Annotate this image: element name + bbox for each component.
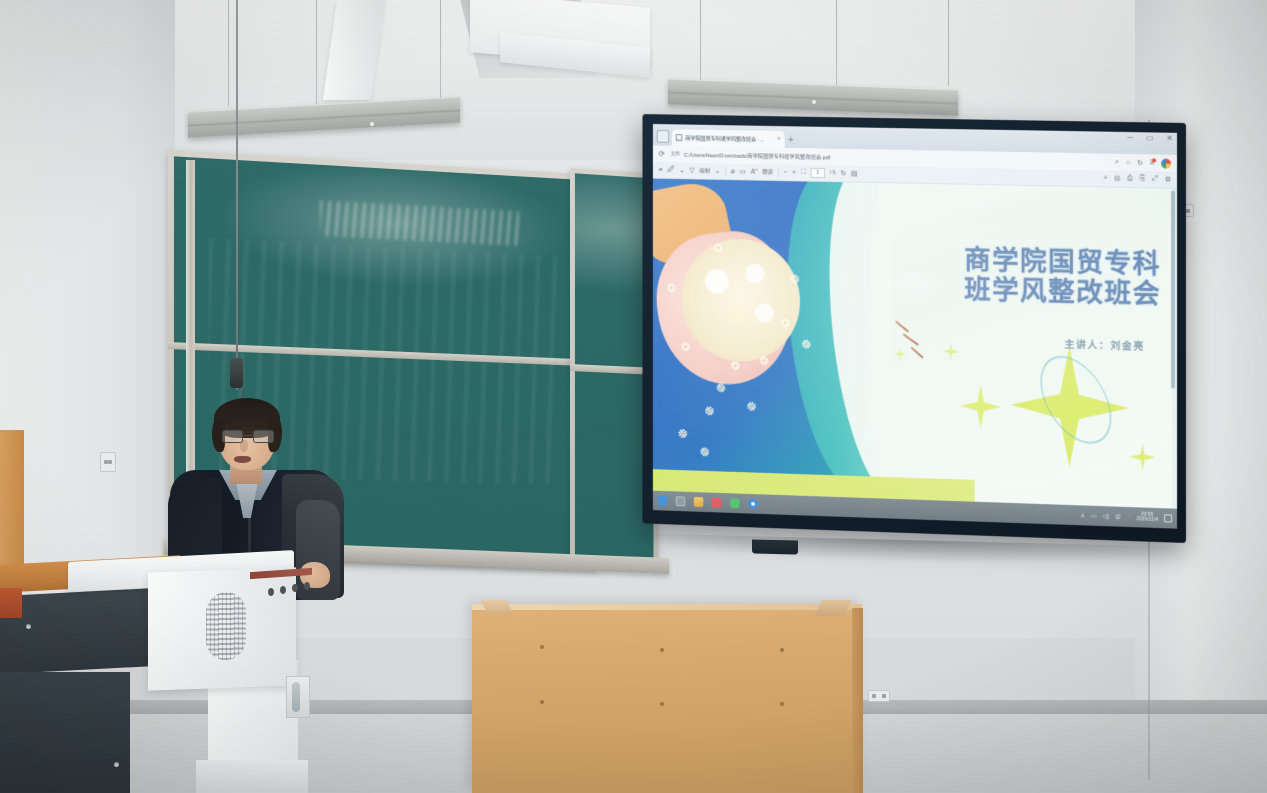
close-window-icon[interactable]: ✕ <box>1166 134 1173 143</box>
sparkle-star-corner <box>1130 443 1156 471</box>
classroom-photo: 商学院国贸专科班学风整改班会 - ... × + ─ ▭ ✕ ⟳ 文件 <box>0 0 1267 793</box>
tab-search-button[interactable] <box>657 130 669 143</box>
desk-screw <box>114 762 119 767</box>
app-pink-icon[interactable] <box>712 498 722 508</box>
daisy-flower <box>802 339 811 348</box>
toolbar-separator-2 <box>778 168 779 177</box>
left-wall <box>0 0 175 620</box>
sidebar-icon[interactable]: ⊟ <box>1114 175 1120 183</box>
daisy-flower <box>790 275 799 284</box>
browser-tab[interactable]: 商学院国贸专科班学风整改班会 - ... × <box>672 129 785 148</box>
foreground-desk-top-edge <box>472 604 862 610</box>
wall-phone-handset <box>292 682 300 712</box>
daisy-flower <box>731 361 740 370</box>
slide-title: 商学院国贸专科 班学风整改班会 <box>833 242 1160 310</box>
file-badge-label: 文件 <box>671 151 681 158</box>
projected-display: 商学院国贸专科班学风整改班会 - ... × + ─ ▭ ✕ ⟳ 文件 <box>653 124 1177 529</box>
daisy-flower <box>667 283 676 292</box>
home-icon[interactable]: ⌂ <box>1126 159 1130 166</box>
lectern-port-hole <box>292 584 298 592</box>
chalk-residue <box>320 200 520 246</box>
fit-page-icon[interactable]: ⛶ <box>801 169 806 177</box>
pdf-scrollbar[interactable] <box>1172 189 1176 509</box>
ime-indicator[interactable]: 中 <box>1115 512 1121 521</box>
lectern-port-hole <box>268 588 274 596</box>
volume-icon[interactable]: ◁) <box>1102 513 1109 520</box>
foreground-desk <box>472 604 862 793</box>
action-center-icon[interactable] <box>1164 514 1172 522</box>
extensions-icon[interactable]: ⌸ <box>1150 159 1154 167</box>
daisy-flower <box>679 429 688 438</box>
save-icon[interactable]: ⎘ <box>1140 175 1146 183</box>
pdf-file-icon <box>676 134 683 141</box>
projection-screen: 商学院国贸专科班学风整改班会 - ... × + ─ ▭ ✕ ⟳ 文件 <box>642 114 1186 543</box>
foreground-desk-right-edge <box>852 608 863 793</box>
profile-icon[interactable] <box>1161 158 1171 168</box>
lectern-port-hole <box>304 582 310 590</box>
sparkle-star-tiny <box>894 347 907 360</box>
chevron-down-icon[interactable]: ⌄ <box>679 166 685 174</box>
light-cable-1b <box>316 0 317 112</box>
desk-screw <box>780 702 784 706</box>
daisy-flower <box>781 318 790 327</box>
fullscreen-icon[interactable]: ⤢ <box>1152 175 1158 183</box>
eraser-icon[interactable]: ⌀ <box>731 167 735 175</box>
daisy-flower <box>705 407 714 416</box>
presenter-mouth <box>234 456 251 463</box>
light-cable-1a <box>228 0 229 106</box>
find-icon[interactable]: ⌕ <box>1104 174 1108 182</box>
network-icon[interactable]: ▭ <box>1091 512 1097 519</box>
sparkle-star-medium <box>960 384 1001 429</box>
light-right-lamp <box>812 100 816 104</box>
settings-icon[interactable]: ⚙ <box>1165 176 1171 184</box>
taskbar-clock[interactable]: 20:55 2025/11/4 <box>1136 512 1158 523</box>
pdf-scrollbar-thumb[interactable] <box>1171 191 1175 389</box>
desk-screw <box>660 648 664 652</box>
page-number-input[interactable]: 1 <box>810 168 824 178</box>
draw-tool-label[interactable]: 绘制 <box>699 167 710 175</box>
chevron-down-icon-2[interactable]: ⌄ <box>715 167 721 175</box>
desk-screw <box>540 645 544 649</box>
draw-tool-icon[interactable]: ▽ <box>689 167 694 175</box>
lectern-base <box>196 760 308 793</box>
reload-icon[interactable]: ⟳ <box>659 149 665 158</box>
glasses-lens-left <box>222 430 243 443</box>
print-icon[interactable]: ⎙ <box>1127 175 1133 183</box>
twig-decoration <box>895 320 909 332</box>
twig-decoration <box>910 346 923 358</box>
zoom-out-button[interactable]: − <box>783 169 787 176</box>
daisy-flower <box>717 384 726 393</box>
sync-icon[interactable]: ↻ <box>1137 159 1143 167</box>
daisy-flower <box>700 447 709 456</box>
left-wood-panel <box>0 430 24 580</box>
search-icon[interactable]: ⌕ <box>1115 158 1119 166</box>
tab-title: 商学院国贸专科班学风整改班会 - ... <box>685 134 764 143</box>
lectern-port-hole <box>280 586 286 594</box>
hanging-cable <box>236 0 238 390</box>
minimize-icon[interactable]: ─ <box>1127 133 1133 142</box>
maximize-icon[interactable]: ▭ <box>1146 133 1154 142</box>
presenter-glasses <box>222 430 274 443</box>
daisy-flower <box>747 402 756 411</box>
wall-outlet-lower <box>868 690 890 702</box>
wall-switch <box>100 452 116 472</box>
slide-page: 商学院国贸专科 班学风整改班会 主讲人：刘金亮 <box>653 179 1177 509</box>
system-tray: ∧ ▭ ◁) 中 ◔ 20:55 2025/11/4 <box>1081 510 1172 524</box>
browser-window: 商学院国贸专科班学风整改班会 - ... × + ─ ▭ ✕ ⟳ 文件 <box>653 124 1177 529</box>
browser-icon[interactable] <box>748 499 758 509</box>
pdf-toolbar-right: ⌕ ⊟ ⎙ ⎘ ⤢ ⚙ <box>1104 174 1171 183</box>
light-cable-2b <box>836 0 837 90</box>
zoom-in-button[interactable]: + <box>792 169 796 176</box>
read-aloud-icon[interactable]: A" <box>751 168 758 175</box>
screen-bottom-mount <box>752 539 798 554</box>
notification-badge-icon[interactable]: ◔ <box>1127 514 1131 520</box>
window-controls: ─ ▭ ✕ <box>1127 133 1173 143</box>
read-aloud-label[interactable]: 朗读 <box>762 168 773 176</box>
menu-icon[interactable]: ≡ <box>659 167 663 174</box>
wechat-icon[interactable] <box>730 498 740 508</box>
toolbar-separator-1 <box>725 167 726 176</box>
new-tab-button[interactable]: + <box>788 135 794 146</box>
start-button[interactable] <box>658 496 667 506</box>
slide-presenter: 主讲人：刘金亮 <box>1064 336 1144 353</box>
pdf-viewport[interactable]: 商学院国贸专科 班学风整改班会 主讲人：刘金亮 <box>653 179 1177 509</box>
task-view-button[interactable] <box>676 496 686 506</box>
url-text: C:/Users/Haan/Downloads/商学院国贸专科班学风整改班会.p… <box>684 150 830 161</box>
page-view-icon[interactable]: ▭ <box>740 168 746 176</box>
daisy-flower <box>759 356 768 365</box>
file-explorer-icon[interactable] <box>694 497 704 507</box>
show-hidden-icons[interactable]: ∧ <box>1081 512 1085 519</box>
rotate-icon[interactable]: ↻ <box>840 169 846 177</box>
desk-screw <box>780 648 784 652</box>
close-icon[interactable]: × <box>777 136 781 143</box>
address-bar-actions: ⌕ ⌂ ↻ ⌸ <box>1115 157 1171 168</box>
desk-screw <box>26 624 31 629</box>
desk-screw <box>660 702 664 706</box>
slide-illustration <box>653 179 891 477</box>
lectern-speaker-grille <box>206 591 246 660</box>
side-desk-lower <box>0 672 130 793</box>
layout-icon[interactable]: ▤ <box>851 170 857 178</box>
sparkle-star-small <box>942 342 959 360</box>
side-desk-front <box>0 588 158 674</box>
glasses-bridge <box>243 435 253 436</box>
daisy-flower <box>681 342 690 351</box>
side-desk-red-trim <box>0 588 22 618</box>
twig-decoration <box>902 333 918 346</box>
clock-date: 2025/11/4 <box>1136 517 1158 523</box>
light-left-lamp <box>370 122 374 126</box>
page-total-label: / 5 <box>830 170 836 176</box>
desk-screw <box>540 700 544 704</box>
highlighter-icon[interactable]: 🖉 <box>667 165 674 176</box>
glasses-lens-right <box>253 430 274 443</box>
hanging-cable-connector <box>230 358 243 388</box>
light-cable-2c <box>948 0 949 86</box>
